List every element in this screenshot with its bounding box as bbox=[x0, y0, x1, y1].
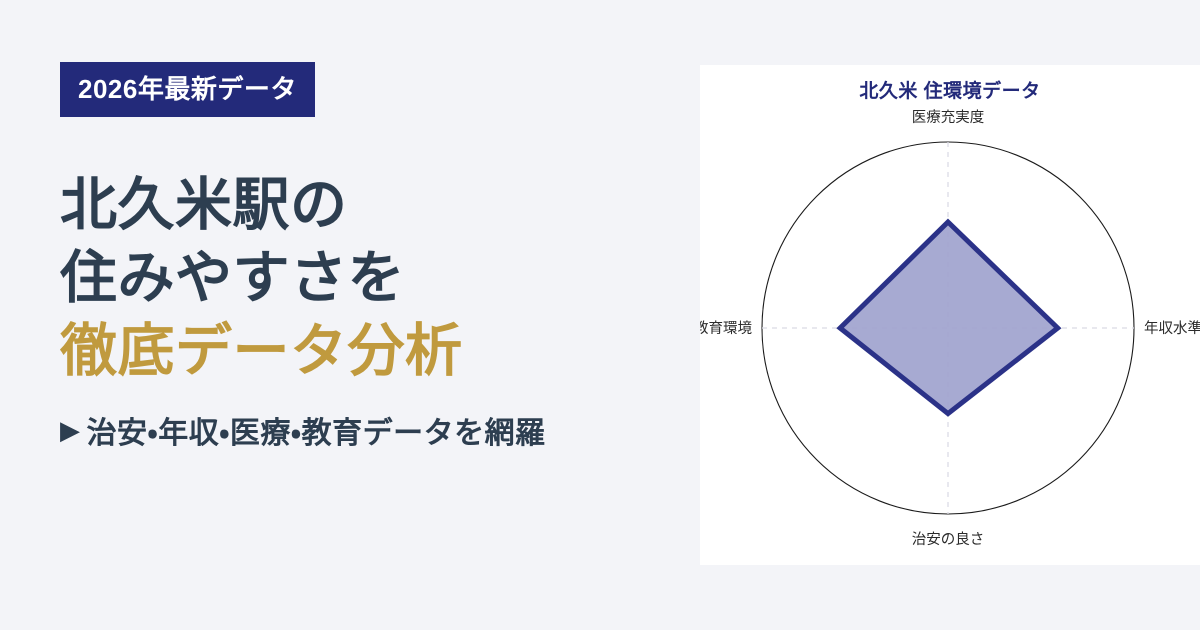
headline-line-2: 住みやすさを bbox=[60, 242, 700, 315]
triangle-right-icon: ▶ bbox=[60, 417, 81, 443]
axis-label-income: 年収水準 bbox=[1144, 320, 1200, 337]
radar-chart: 医療充実度 年収水準 治安の良さ 教育環境 bbox=[700, 65, 1200, 565]
date-badge: 2026年最新データ bbox=[60, 62, 315, 117]
axis-label-education: 教育環境 bbox=[700, 320, 752, 337]
radar-data-polygon bbox=[840, 222, 1058, 414]
axis-label-safety: 治安の良さ bbox=[912, 531, 985, 548]
axis-label-medical: 医療充実度 bbox=[912, 109, 985, 126]
radar-chart-card: 北久米 住環境データ 医療充実度 年収水準 治安の良さ 教育環境 bbox=[700, 65, 1200, 565]
left-text-column: 2026年最新データ 北久米駅の 住みやすさを 徹底データ分析 ▶ 治安・年収・… bbox=[0, 0, 700, 630]
subtitle: ▶ 治安・年収・医療・教育データを網羅 bbox=[60, 408, 700, 452]
headline-line-1: 北久米駅の bbox=[60, 169, 700, 242]
subtitle-label: 治安・年収・医療・教育データを網羅 bbox=[87, 408, 546, 452]
page-title: 北久米駅の 住みやすさを 徹底データ分析 bbox=[60, 169, 700, 388]
headline-line-3-accent: 徹底データ分析 bbox=[60, 315, 700, 388]
